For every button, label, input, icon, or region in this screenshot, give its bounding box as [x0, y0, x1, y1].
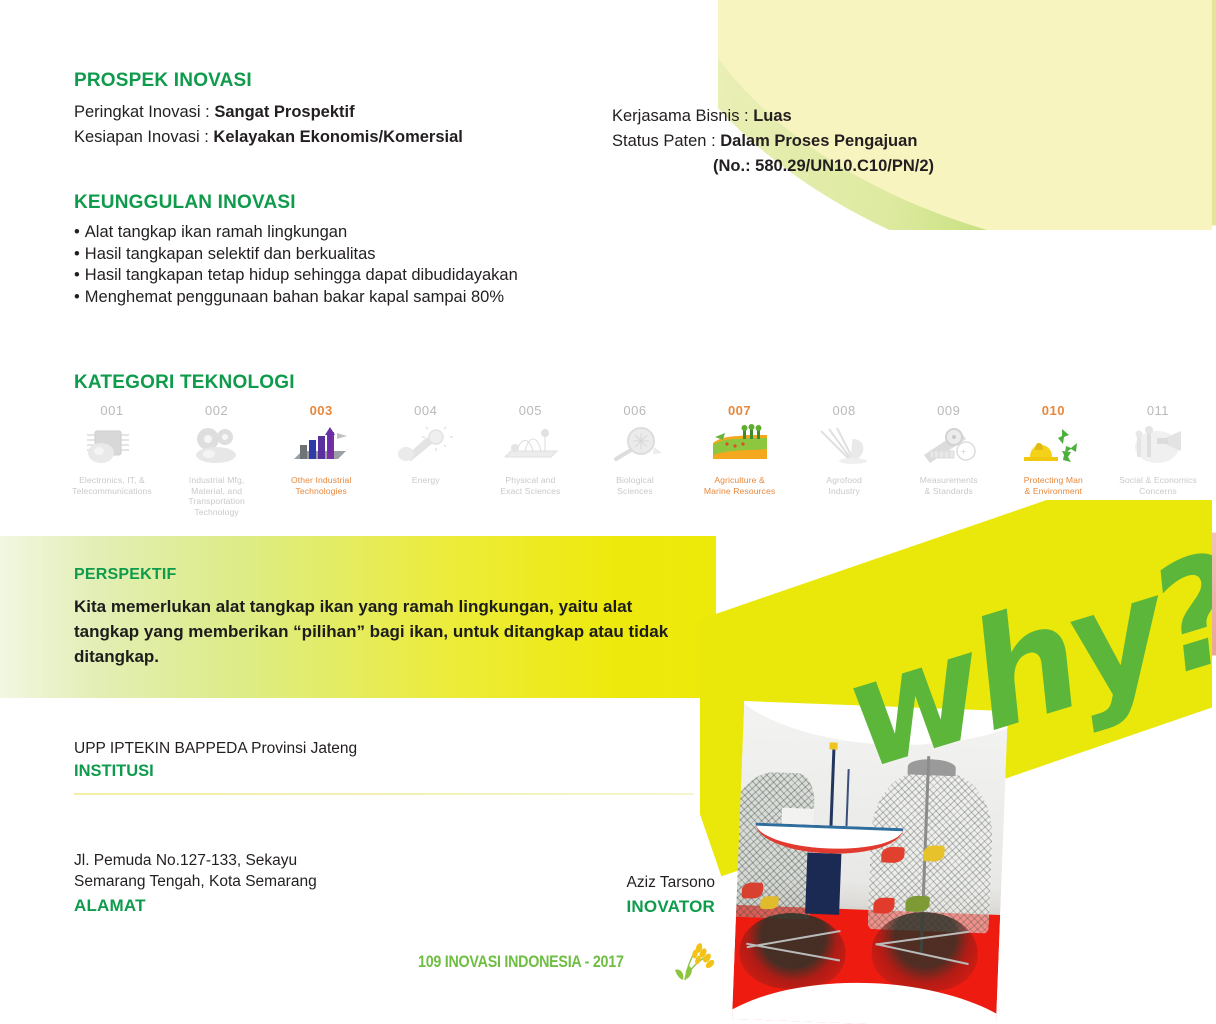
category-number: 006 [623, 403, 646, 418]
boat-stand [805, 853, 842, 915]
list-item: Hasil tangkapan selektif dan berkualitas [74, 244, 594, 266]
perspektif-band: PERSPEKTIF Kita memerlukan alat tangkap … [0, 536, 716, 698]
category-label: AgrofoodIndustry [826, 475, 862, 496]
category-label: Energy [412, 475, 440, 486]
paten-number-value: (No.: 580.29/UN10.C10/PN/2) [713, 157, 934, 175]
right-edge-strip [1212, 0, 1216, 1024]
paten-number-row: (No.: 580.29/UN10.C10/PN/2) [612, 155, 1032, 177]
fish-cutout-yellow-2 [760, 896, 779, 909]
category-003[interactable]: 003 Other IndustrialTechnologies [271, 403, 371, 496]
keunggulan-list: Alat tangkap ikan ramah lingkungan Hasil… [74, 222, 594, 308]
category-number: 002 [205, 403, 228, 418]
helmet-recycle-icon [1016, 422, 1090, 470]
microchip-icon [75, 422, 149, 470]
fish-cutout-yellow-1 [923, 845, 945, 862]
gears-icon [180, 422, 254, 470]
boat-flag [830, 743, 838, 750]
wheat-icon [807, 422, 881, 470]
category-005[interactable]: 005 Physical andExact Sciences [480, 403, 580, 496]
category-007[interactable]: 007 Agriculture &Marine Resources [690, 403, 790, 496]
prospek-inovasi-section: PROSPEK INOVASI Peringkat Inovasi : Sang… [74, 70, 594, 151]
pendulum-icon [493, 422, 567, 470]
svg-text:+: + [961, 447, 966, 456]
kesiapan-inovasi-row: Kesiapan Inovasi : Kelayakan Ekonomis/Ko… [74, 126, 594, 148]
megaphone-people-icon [1121, 422, 1195, 470]
keunggulan-heading: KEUNGGULAN INOVASI [74, 192, 594, 214]
category-number: 007 [728, 403, 751, 418]
category-008[interactable]: 008 AgrofoodIndustry [794, 403, 894, 496]
peringkat-inovasi-label: Peringkat Inovasi : [74, 103, 214, 121]
kesiapan-inovasi-label: Kesiapan Inovasi : [74, 128, 213, 146]
category-number: 009 [937, 403, 960, 418]
list-item: Hasil tangkapan tetap hidup sehingga dap… [74, 265, 594, 287]
category-010[interactable]: 010 Protecting Man& Environment [1003, 403, 1103, 496]
kerjasama-bisnis-row: Kerjasama Bisnis : Luas [612, 105, 1032, 127]
category-label: BiologicalSciences [616, 475, 654, 496]
category-number: 004 [414, 403, 437, 418]
category-011[interactable]: 011 Social & EconomicsConcerns [1108, 403, 1208, 496]
category-002[interactable]: 002 Industrial Mfg,Material, andTranspor… [167, 403, 267, 517]
category-label: Social & EconomicsConcerns [1119, 475, 1197, 496]
category-label: Agriculture &Marine Resources [704, 475, 775, 496]
category-009[interactable]: 009 + Measurements& Standards [899, 403, 999, 496]
inovator-label: INOVATOR [430, 897, 715, 917]
kerjasama-bisnis-label: Kerjasama Bisnis : [612, 107, 753, 125]
category-label: Physical andExact Sciences [500, 475, 560, 496]
category-001[interactable]: 001 Electronics, IT, &Telecommunications [62, 403, 162, 496]
magnifier-cell-icon [598, 422, 672, 470]
category-label: Industrial Mfg,Material, andTransportati… [188, 475, 245, 517]
prospek-heading: PROSPEK INOVASI [74, 70, 594, 92]
category-label: Other IndustrialTechnologies [291, 475, 351, 496]
status-paten-label: Status Paten : [612, 132, 720, 150]
bar-arrow-icon [284, 422, 358, 470]
sun-energy-icon [389, 422, 463, 470]
fish-cutout-green-1 [905, 895, 929, 912]
kategori-teknologi-heading: KATEGORI TEKNOLOGI [74, 372, 295, 394]
alamat-line-1: Jl. Pemuda No.127-133, Sekayu [74, 850, 494, 871]
perspektif-text: Kita memerlukan alat tangkap ikan yang r… [74, 594, 686, 669]
peringkat-inovasi-row: Peringkat Inovasi : Sangat Prospektif [74, 101, 594, 123]
kerjasama-paten-section: Kerjasama Bisnis : Luas Status Paten : D… [612, 105, 1032, 180]
category-number: 005 [519, 403, 542, 418]
category-004[interactable]: 004 Energy [376, 403, 476, 486]
inovator-value: Aziz Tarsono [430, 872, 715, 893]
category-number: 011 [1147, 403, 1169, 418]
institusi-value: UPP IPTEKIN BAPPEDA Provinsi Jateng [74, 738, 694, 759]
peringkat-inovasi-value: Sangat Prospektif [214, 103, 354, 121]
kerjasama-bisnis-value: Luas [753, 107, 792, 125]
category-006[interactable]: 006 BiologicalSciences [585, 403, 685, 496]
institusi-label: INSTITUSI [74, 762, 694, 781]
footer-text: 109 INOVASI INDONESIA - 2017 [418, 952, 624, 972]
list-item: Menghemat penggunaan bahan bakar kapal s… [74, 287, 594, 309]
perspektif-heading: PERSPEKTIF [74, 566, 686, 584]
kesiapan-inovasi-value: Kelayakan Ekonomis/Komersial [213, 128, 462, 146]
status-paten-value: Dalam Proses Pengajuan [720, 132, 917, 150]
inovator-section: Aziz Tarsono INOVATOR [430, 872, 715, 917]
institusi-divider [74, 793, 694, 795]
category-number: 003 [310, 403, 333, 418]
institusi-section: UPP IPTEKIN BAPPEDA Provinsi Jateng INST… [74, 738, 694, 781]
category-label: Electronics, IT, &Telecommunications [72, 475, 152, 496]
category-number: 008 [833, 403, 856, 418]
category-number: 001 [100, 403, 123, 418]
status-paten-row: Status Paten : Dalam Proses Pengajuan [612, 130, 1032, 152]
category-label: Protecting Man& Environment [1024, 475, 1083, 496]
caliper-icon: + [912, 422, 986, 470]
keunggulan-inovasi-section: KEUNGGULAN INOVASI Alat tangkap ikan ram… [74, 192, 594, 308]
field-crops-icon [703, 422, 777, 470]
why-artwork: why? [700, 500, 1216, 1024]
list-item: Alat tangkap ikan ramah lingkungan [74, 222, 594, 244]
category-label: Measurements& Standards [920, 475, 978, 496]
perspektif-content: PERSPEKTIF Kita memerlukan alat tangkap … [74, 566, 686, 669]
category-number: 010 [1042, 403, 1065, 418]
